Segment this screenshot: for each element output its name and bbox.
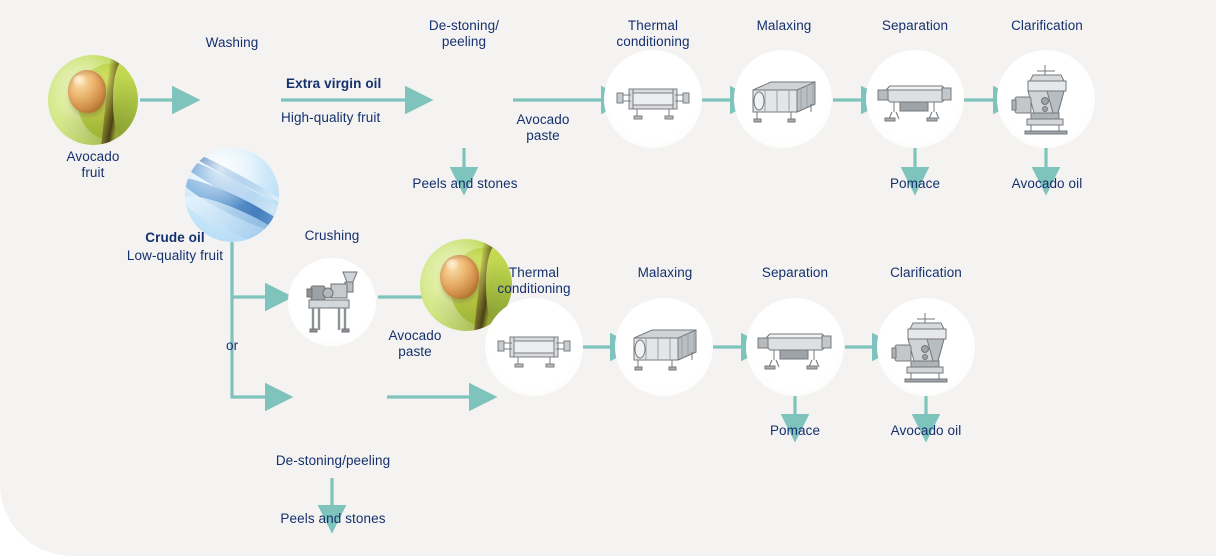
or-connector-label: or bbox=[226, 338, 262, 354]
decanter-centrifuge-machine-top bbox=[866, 50, 964, 148]
step-label-separation-top: Separation bbox=[865, 18, 965, 34]
avocado-oil-label-bottom: Avocado oil bbox=[874, 423, 978, 439]
high-quality-fruit-label: High-quality fruit bbox=[281, 110, 467, 126]
malaxer-icon-bottom bbox=[626, 322, 702, 372]
decanter-centrifuge-icon bbox=[876, 76, 954, 122]
low-quality-fruit-label: Low-quality fruit bbox=[108, 248, 242, 264]
peels-and-stones-label-top: Peels and stones bbox=[394, 176, 536, 192]
step-label-clarification-top: Clarification bbox=[997, 18, 1097, 34]
vertical-centrifuge-icon-bottom bbox=[891, 311, 961, 383]
pomace-label-top: Pomace bbox=[869, 176, 961, 192]
step-label-destoning-top: De-stoning/ peeling bbox=[414, 18, 514, 50]
thermal-conditioner-icon-bottom bbox=[496, 325, 572, 369]
avocado-paste-label-bottom: Avocado paste bbox=[377, 328, 453, 360]
malaxer-machine-bottom bbox=[615, 298, 713, 396]
thermal-conditioner-machine-top bbox=[604, 50, 702, 148]
malaxer-icon bbox=[745, 74, 821, 124]
vertical-centrifuge-machine-top bbox=[997, 50, 1095, 148]
step-label-malaxing-top: Malaxing bbox=[734, 18, 834, 34]
water-sphere-image bbox=[185, 148, 279, 242]
step-label-crushing: Crushing bbox=[282, 228, 382, 244]
avocado-paste-label-top: Avocado paste bbox=[505, 112, 581, 144]
washing-label: Washing bbox=[182, 35, 282, 51]
malaxer-machine-top bbox=[734, 50, 832, 148]
destoning-peeling-label-bottom: De-stoning/peeling bbox=[259, 453, 407, 469]
avocado-fruit-label: Avocado fruit bbox=[42, 149, 144, 181]
crusher-icon bbox=[301, 270, 363, 334]
step-label-thermal-top: Thermal conditioning bbox=[603, 18, 703, 50]
decanter-centrifuge-icon-bottom bbox=[756, 324, 834, 370]
thermal-conditioner-machine-bottom bbox=[485, 298, 583, 396]
crusher-machine bbox=[288, 258, 376, 346]
step-label-separation-bottom: Separation bbox=[745, 265, 845, 281]
step-label-clarification-bottom: Clarification bbox=[876, 265, 976, 281]
decanter-centrifuge-machine-bottom bbox=[746, 298, 844, 396]
process-flow-diagram: Avocado fruit Washing Extra virgin oil H… bbox=[0, 0, 1216, 556]
thermal-conditioner-icon bbox=[615, 77, 691, 121]
extra-virgin-oil-label: Extra virgin oil bbox=[286, 76, 462, 92]
vertical-centrifuge-machine-bottom bbox=[877, 298, 975, 396]
avocado-oil-label-top: Avocado oil bbox=[995, 176, 1099, 192]
step-label-thermal-bottom: Thermal conditioning bbox=[484, 265, 584, 297]
avocado-fruit-image bbox=[48, 55, 138, 145]
pomace-label-bottom: Pomace bbox=[749, 423, 841, 439]
crude-oil-label: Crude oil bbox=[114, 230, 236, 246]
peels-and-stones-label-bottom: Peels and stones bbox=[262, 511, 404, 527]
vertical-centrifuge-icon bbox=[1011, 63, 1081, 135]
step-label-malaxing-bottom: Malaxing bbox=[615, 265, 715, 281]
